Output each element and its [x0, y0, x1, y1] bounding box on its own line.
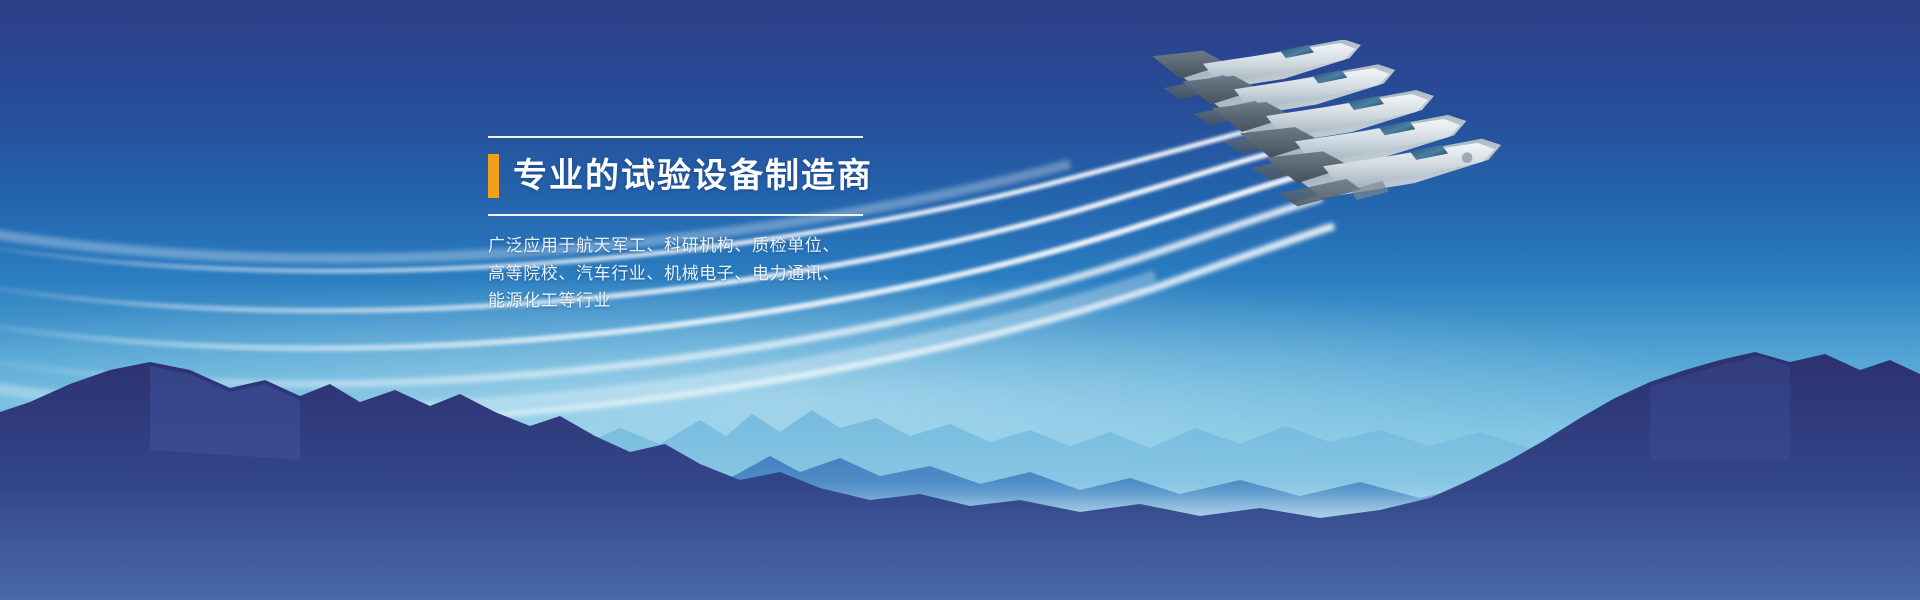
headline-rule-bottom: [488, 214, 863, 216]
page-title: 专业的试验设备制造商: [513, 159, 873, 193]
accent-bar-icon: [488, 154, 499, 198]
subtitle-line-3: 能源化工等行业: [488, 287, 908, 315]
mountain-range-icon: [0, 340, 1920, 600]
hero-banner: 专业的试验设备制造商 广泛应用于航天军工、科研机构、质检单位、 高等院校、汽车行…: [0, 0, 1920, 600]
banner-subtitle: 广泛应用于航天军工、科研机构、质检单位、 高等院校、汽车行业、机械电子、电力通讯…: [488, 232, 908, 315]
headline-rule-top: [488, 136, 863, 138]
fighter-jet-formation-icon: [1120, 40, 1540, 270]
headline-row: 专业的试验设备制造商: [488, 146, 908, 206]
subtitle-line-1: 广泛应用于航天军工、科研机构、质检单位、: [488, 232, 908, 260]
subtitle-line-2: 高等院校、汽车行业、机械电子、电力通讯、: [488, 260, 908, 288]
banner-copy-block: 专业的试验设备制造商 广泛应用于航天军工、科研机构、质检单位、 高等院校、汽车行…: [488, 136, 908, 315]
